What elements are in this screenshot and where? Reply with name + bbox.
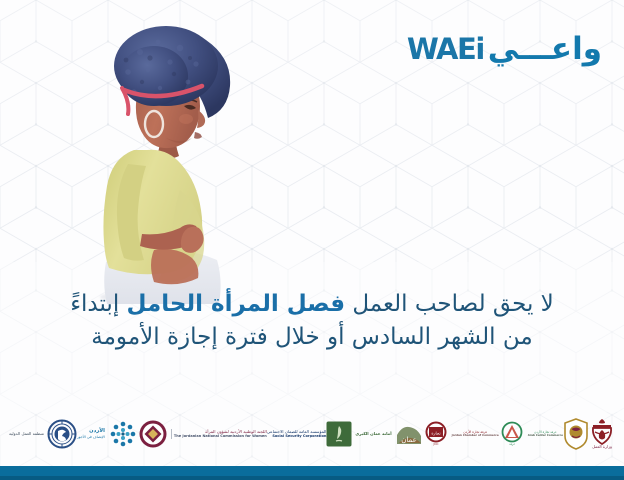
partner-logo-jordan-pay-equity: الأردن الإنصاف في الأجور [77,411,138,457]
pregnant-woman-illustration [62,14,252,304]
partner-logo-strip: منظمة العمل الدولية الأردن الإنصاف في ال… [0,405,624,463]
brand-name-latin: WAEi [407,35,484,64]
pay-equity-dots-icon [108,419,138,449]
brand-name-arabic: واعـــي [488,34,602,65]
headline-line-2: من الشهر السادس أو خلال فترة إجازة الأمو… [18,321,606,354]
amman-chamber-icon: غرفة [499,421,525,447]
headline-line-1: لا يحق لصاحب العمل فصل المرأة الحامل إبت… [18,288,606,321]
svg-text:غرفة: غرفة [509,442,515,446]
partner-logo-shield-emblem [563,411,589,457]
partner-logo-amman-chamber: غرفة غرفة تجارة الأردن Arab Center Comme… [499,411,563,457]
ilo-emblem-icon [47,419,77,449]
partner-ammanchamber-label-en: Arab Center Commerce [528,434,563,438]
partner-logo-jordan-chamber-of-commerce: تجارة JCC غرفة تجارة الأردن Jordan Chamb… [423,411,499,457]
waei-brand-logo: واعـــي WAEi [407,34,602,65]
partner-gam-label-ar: أمانة عمان الكبرى [355,431,391,437]
svg-text:عمان: عمان [401,436,417,444]
chamber-of-commerce-icon: تجارة JCC [423,421,449,447]
partner-logo-greater-amman-municipality: أمانة عمان الكبرى عمان [326,411,422,457]
jncw-emblem-icon [138,419,168,449]
amman-skyline-icon: عمان [395,421,423,447]
jordan-crown-eagle-icon: وزارة العمل [589,418,615,450]
partner-logo-ilo: منظمة العمل الدولية [9,411,77,457]
svg-text:تجارة: تجارة [431,431,441,436]
headline-part-1: لا يحق لصاحب العمل [352,291,553,317]
svg-text:وزارة العمل: وزارة العمل [592,444,612,449]
partner-logo-ministry-of-labour: وزارة العمل [589,411,615,457]
partner-logo-jncw: اللجنة الوطنية الأردنية لشؤون المرأة The… [138,411,267,457]
amman-municipality-icon [326,421,352,447]
poster-stage: واعـــي WAEi [0,0,624,410]
partner-ilo-label-ar: منظمة العمل الدولية [9,431,44,437]
headline-emphasis: فصل المرأة الحامل [127,291,345,317]
partner-jncw-label-en: The Jordanian National Commission for Wo… [174,434,267,439]
bottom-accent-bar-shade [0,476,624,480]
partner-payequity-sublabel-ar: الإنصاف في الأجور [77,435,105,440]
partner-jcc-label-en: Jordan Chamber of Commerce [452,434,499,438]
headline-block: لا يحق لصاحب العمل فصل المرأة الحامل إبت… [0,288,624,355]
svg-text:JCC: JCC [432,442,438,446]
shield-emblem-icon [563,418,589,450]
headline-part-2: إبتداءً [70,291,119,317]
poster-canvas: واعـــي WAEi [0,0,624,480]
partner-ssc-label-en: Social Security Corporation [267,434,327,439]
partner-logo-ssc: المؤسسة العامة للضمان الاجتماعي Social S… [267,411,327,457]
